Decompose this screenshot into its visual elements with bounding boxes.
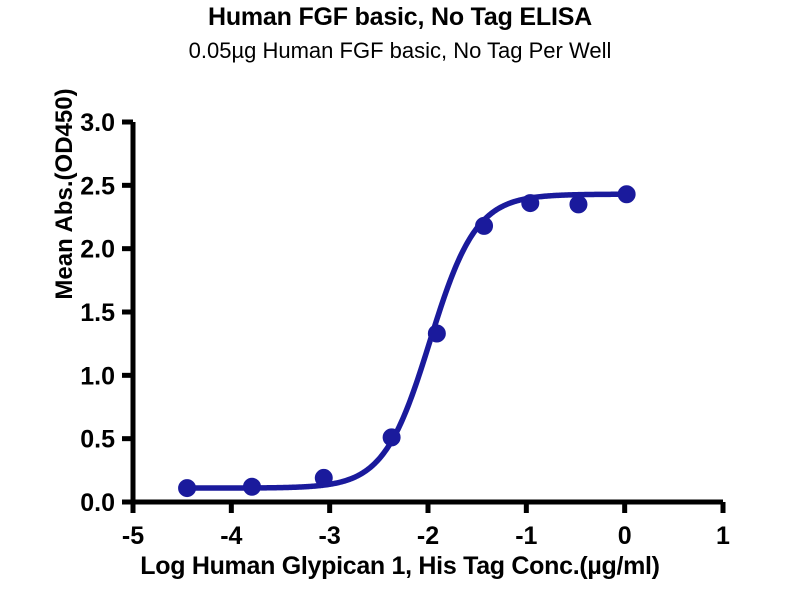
y-tick-label: 2.0 [80, 236, 115, 264]
data-point-marker [570, 196, 587, 213]
y-tick-labels: 0.00.51.01.52.02.53.0 [80, 109, 115, 517]
x-tick-label: -1 [515, 522, 537, 550]
data-point-marker [522, 195, 539, 212]
y-tick-label: 0.0 [80, 489, 115, 517]
axis-lines [122, 122, 723, 513]
x-tick-labels: -5-4-3-2-101 [122, 522, 730, 550]
data-point-marker [315, 469, 332, 486]
x-tick-label: 0 [618, 522, 632, 550]
x-tick-label: -5 [122, 522, 144, 550]
chart-figure: Human FGF basic, No Tag ELISA 0.05µg Hum… [0, 0, 800, 600]
fit-curve [187, 194, 627, 488]
data-point-marker [243, 478, 260, 495]
y-tick-label: 2.5 [80, 172, 115, 200]
x-tick-label: -4 [220, 522, 242, 550]
y-tick-label: 0.5 [80, 426, 115, 454]
data-point-marker [618, 186, 635, 203]
x-tick-label: 1 [716, 522, 730, 550]
x-tick-label: -3 [319, 522, 341, 550]
y-tick-label: 1.5 [80, 299, 115, 327]
y-tick-label: 3.0 [80, 109, 115, 137]
data-points [179, 186, 636, 497]
y-tick-label: 1.0 [80, 362, 115, 390]
data-point-marker [476, 217, 493, 234]
data-point-marker [383, 429, 400, 446]
x-tick-label: -2 [417, 522, 439, 550]
plot-area: 0.00.51.01.52.02.53.0 -5-4-3-2-101 [0, 0, 800, 600]
data-point-marker [179, 480, 196, 497]
data-point-marker [428, 325, 445, 342]
